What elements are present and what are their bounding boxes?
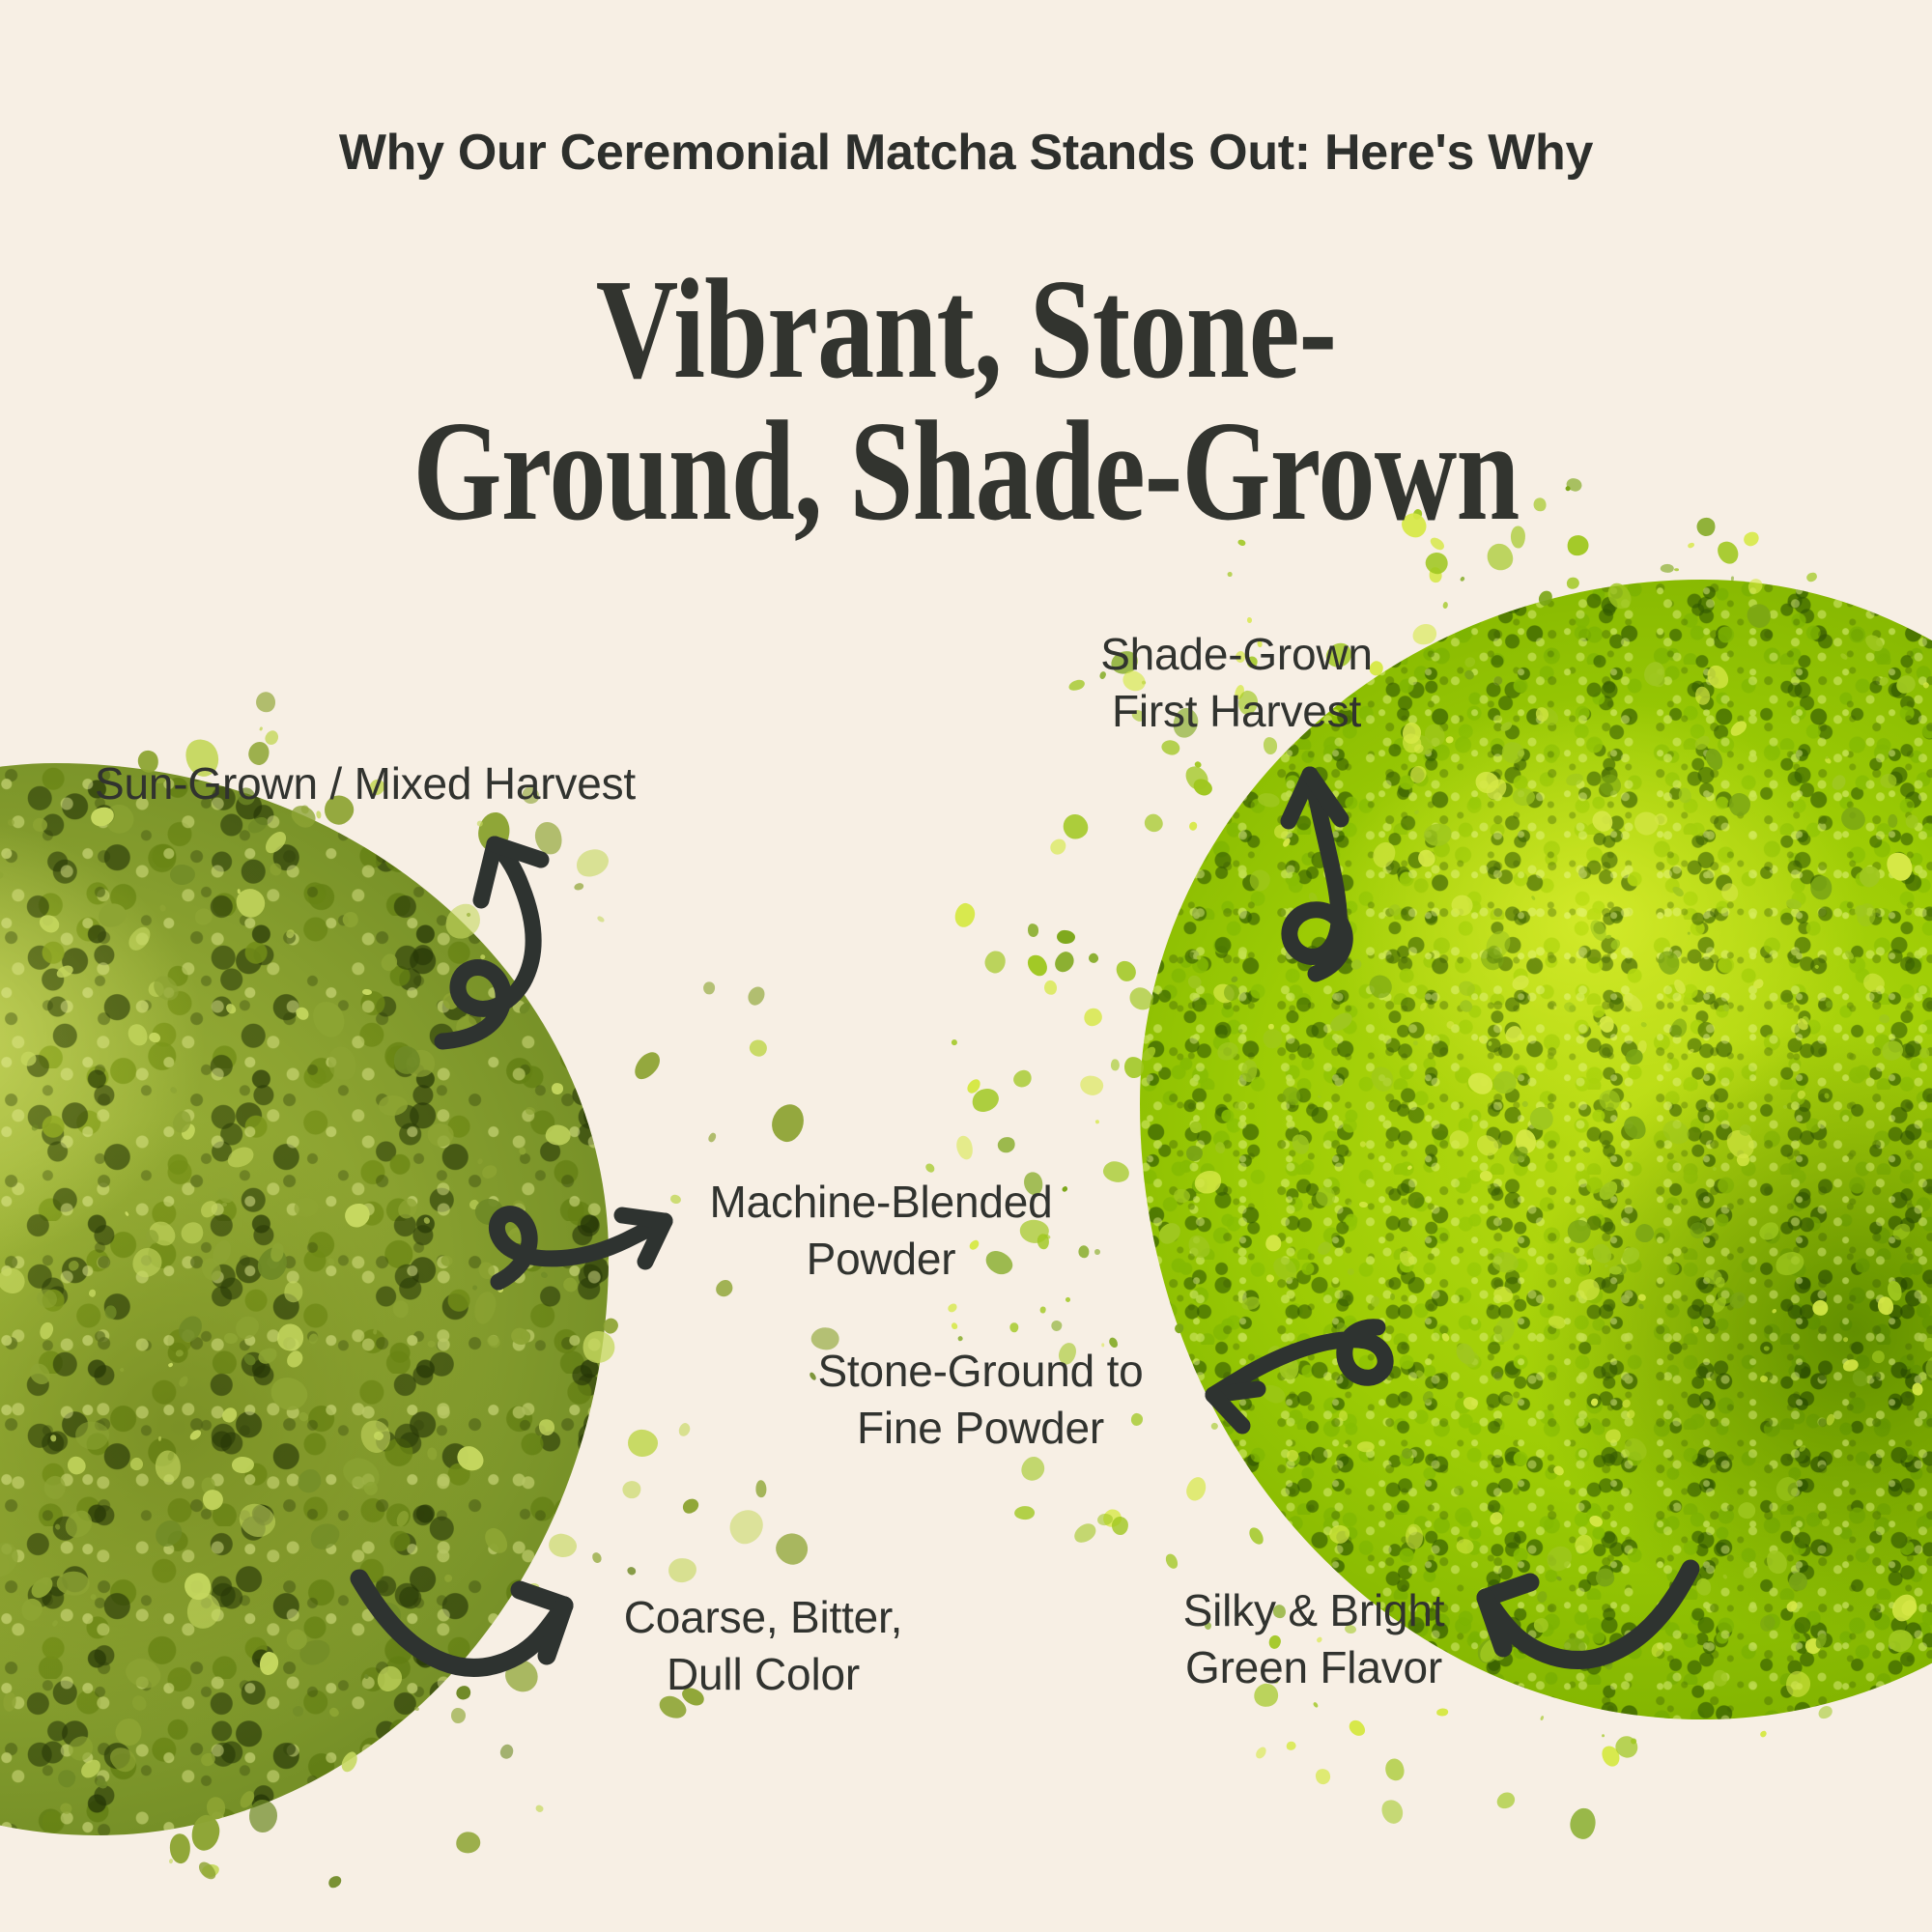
- powder-crumb: [1719, 881, 1741, 903]
- powder-crumb: [1483, 775, 1511, 803]
- powder-crumb: [1877, 674, 1889, 687]
- powder-crumb: [225, 1002, 239, 1015]
- powder-crumb: [249, 1800, 278, 1833]
- powder-crumb: [54, 963, 74, 980]
- powder-crumb: [1014, 1506, 1035, 1520]
- powder-crumb: [261, 828, 290, 857]
- powder-crumb: [199, 1750, 217, 1768]
- powder-crumb: [1279, 1084, 1303, 1108]
- powder-crumb: [1763, 1346, 1769, 1351]
- powder-crumb: [540, 1270, 549, 1278]
- powder-crumb: [1787, 1570, 1810, 1593]
- powder-crumb: [324, 1042, 359, 1083]
- powder-crumb: [443, 1573, 454, 1583]
- powder-crumb: [1691, 1325, 1699, 1333]
- powder-crumb: [1492, 1608, 1514, 1634]
- powder-crumb: [1620, 1113, 1651, 1145]
- powder-crumb: [1880, 774, 1897, 788]
- powder-crumb: [1734, 1151, 1751, 1168]
- powder-crumb: [1335, 1321, 1351, 1343]
- powder-crumb: [1595, 1086, 1625, 1116]
- powder-crumb: [1254, 1745, 1268, 1760]
- powder-crumb: [1742, 529, 1762, 549]
- powder-crumb: [1596, 1021, 1600, 1026]
- powder-crumb: [32, 817, 47, 832]
- powder-crumb: [951, 1038, 957, 1045]
- powder-crumb: [526, 1107, 536, 1116]
- powder-crumb: [1492, 1284, 1516, 1304]
- powder-crumb: [2, 1691, 17, 1712]
- powder-crumb: [155, 1450, 183, 1484]
- powder-crumb: [772, 1529, 811, 1569]
- powder-crumb: [1862, 632, 1886, 654]
- powder-crumb: [1731, 576, 1735, 581]
- powder-crumb: [391, 1299, 409, 1318]
- powder-crumb: [293, 1196, 319, 1217]
- powder-crumb: [338, 1451, 384, 1494]
- powder-crumb: [1080, 1005, 1105, 1030]
- infographic-canvas: Why Our Ceremonial Matcha Stands Out: He…: [0, 0, 1932, 1932]
- powder-crumb: [455, 1831, 481, 1854]
- powder-crumb: [1459, 998, 1475, 1014]
- powder-crumb: [1010, 1066, 1035, 1090]
- powder-crumb: [1751, 978, 1765, 990]
- powder-crumb: [1694, 1577, 1712, 1597]
- powder-crumb: [1378, 1797, 1406, 1827]
- powder-crumb: [1122, 1056, 1144, 1079]
- powder-crumb: [1563, 1001, 1577, 1014]
- powder-crumb: [259, 726, 263, 731]
- powder-crumb: [1386, 902, 1403, 919]
- powder-crumb: [119, 1367, 125, 1373]
- powder-crumb: [1588, 808, 1616, 836]
- powder-crumb: [1460, 1348, 1484, 1371]
- powder-crumb: [202, 1477, 215, 1493]
- powder-crumb: [968, 1085, 1002, 1116]
- powder-crumb: [198, 1255, 224, 1284]
- powder-crumb: [116, 1719, 142, 1746]
- powder-crumb: [224, 1144, 256, 1172]
- powder-crumb: [148, 1031, 161, 1043]
- powder-crumb: [379, 952, 400, 974]
- arrow-shade-grown-icon: [1200, 736, 1403, 978]
- powder-crumb: [453, 1442, 488, 1476]
- powder-crumb: [1626, 1409, 1636, 1421]
- powder-crumb: [1572, 1532, 1596, 1557]
- powder-crumb: [1227, 572, 1232, 577]
- powder-crumb: [545, 1124, 571, 1147]
- powder-crumb: [597, 915, 606, 923]
- label-stone-ground: Stone-Ground to Fine Powder: [792, 1343, 1169, 1457]
- powder-crumb: [147, 980, 165, 998]
- powder-crumb: [1715, 538, 1744, 568]
- powder-crumb: [1674, 568, 1679, 571]
- powder-body-right: [1140, 580, 1932, 1719]
- powder-crumb: [534, 1804, 544, 1813]
- powder-crumb: [1448, 1129, 1469, 1150]
- powder-crumb: [1160, 739, 1181, 757]
- powder-crumb: [1694, 685, 1711, 705]
- powder-crumb: [269, 862, 283, 877]
- powder-crumb: [1215, 1039, 1241, 1064]
- powder-crumb: [1094, 1248, 1099, 1255]
- powder-crumb: [1531, 1615, 1551, 1635]
- powder-crumb: [1816, 1704, 1834, 1721]
- powder-crumb: [241, 1352, 257, 1368]
- powder-crumb: [1318, 1094, 1321, 1098]
- label-shade-grown-line-1: Shade-Grown: [1053, 626, 1420, 683]
- powder-crumb: [480, 1163, 499, 1181]
- powder-crumb: [1540, 1716, 1545, 1721]
- powder-crumb: [263, 728, 281, 748]
- powder-crumb: [394, 1195, 420, 1222]
- powder-crumb: [205, 1796, 227, 1821]
- powder-crumb: [75, 1421, 111, 1452]
- powder-crumb: [1442, 601, 1448, 609]
- powder-crumb: [1347, 1202, 1351, 1207]
- powder-crumb: [1824, 1093, 1830, 1099]
- powder-crumb: [328, 1706, 341, 1719]
- powder-crumb: [1095, 1120, 1100, 1124]
- powder-crumb: [1872, 1350, 1886, 1364]
- powder-crumb: [1586, 918, 1608, 944]
- powder-crumb: [1313, 1701, 1320, 1708]
- powder-crumb: [219, 1405, 240, 1425]
- powder-crumb: [1558, 1661, 1562, 1665]
- powder-crumb: [1414, 810, 1420, 815]
- powder-crumb: [38, 1321, 55, 1341]
- powder-crumb: [64, 1732, 98, 1766]
- powder-crumb: [1533, 1571, 1541, 1579]
- powder-crumb: [1407, 763, 1429, 785]
- powder-crumb: [1445, 1020, 1455, 1030]
- powder-crumb: [1798, 1444, 1806, 1453]
- powder-crumb: [454, 1683, 473, 1702]
- powder-crumb: [1722, 1573, 1728, 1579]
- powder-crumb: [680, 1496, 700, 1517]
- powder-crumb: [184, 1589, 224, 1633]
- powder-crumb: [1289, 1132, 1312, 1157]
- powder-crumb: [1855, 862, 1884, 892]
- powder-crumb: [1070, 1520, 1098, 1547]
- powder-crumb: [1721, 1003, 1730, 1011]
- powder-crumb: [1811, 1299, 1830, 1317]
- powder-crumb: [1703, 1268, 1722, 1286]
- powder-crumb: [1290, 934, 1298, 943]
- powder-crumb: [1078, 1074, 1104, 1098]
- powder-crumb: [1369, 1295, 1380, 1308]
- powder-crumb: [0, 1264, 29, 1298]
- powder-crumb: [1826, 755, 1830, 759]
- powder-crumb: [1214, 1141, 1226, 1154]
- powder-crumb: [1825, 1413, 1835, 1427]
- powder-crumb: [1473, 1634, 1506, 1667]
- powder-crumb: [1463, 669, 1476, 682]
- powder-crumb: [1492, 1250, 1520, 1273]
- powder-crumb: [1346, 1267, 1354, 1276]
- label-shade-grown-line-2: First Harvest: [1053, 683, 1420, 740]
- powder-crumb: [1611, 1732, 1641, 1761]
- powder-crumb: [755, 1481, 766, 1498]
- powder-crumb: [1634, 1222, 1655, 1242]
- powder-crumb: [1886, 1280, 1904, 1302]
- powder-crumb: [1598, 1014, 1616, 1034]
- powder-crumb: [1843, 1337, 1849, 1342]
- powder-speckle-left: [0, 763, 609, 1835]
- powder-body-left: [0, 763, 609, 1835]
- powder-crumb: [1642, 660, 1667, 688]
- powder-crumb: [1668, 1015, 1690, 1039]
- powder-crumb: [1742, 1564, 1757, 1579]
- powder-crumb: [1553, 1006, 1556, 1009]
- powder-crumb: [953, 1134, 975, 1161]
- powder-crumb: [1488, 1510, 1505, 1527]
- powder-grain-right: [1140, 580, 1932, 1719]
- powder-crumb: [1671, 885, 1686, 898]
- powder-crumb: [1493, 1789, 1518, 1811]
- powder-crumb: [1429, 566, 1442, 582]
- powder-crumb: [1188, 1120, 1204, 1135]
- powder-crumb: [196, 1860, 219, 1884]
- powder-crumb: [1078, 1244, 1090, 1258]
- powder-crumb: [510, 1198, 527, 1215]
- powder-crumb: [1923, 1337, 1932, 1352]
- arrow-stone-ground-icon: [1188, 1304, 1410, 1444]
- powder-crumb: [1210, 980, 1237, 1006]
- powder-crumb: [479, 953, 486, 960]
- powder-crumb: [1603, 1657, 1613, 1670]
- powder-crumb: [1677, 786, 1692, 804]
- powder-crumb: [1397, 1248, 1417, 1269]
- powder-crumb: [158, 1435, 161, 1440]
- powder-crumb: [1703, 663, 1732, 693]
- powder-crumb: [1173, 1321, 1184, 1334]
- powder-crumb: [146, 1216, 181, 1250]
- powder-crumb: [30, 1123, 39, 1132]
- powder-crumb: [1140, 1044, 1158, 1063]
- powder-crumb: [573, 844, 613, 881]
- powder-crumb: [1803, 1635, 1824, 1657]
- powder-crumb: [1477, 944, 1508, 974]
- powder-crumb: [270, 1242, 285, 1264]
- powder-crumb: [1565, 576, 1580, 590]
- powder-crumb: [222, 1203, 227, 1207]
- powder-crumb: [1581, 1146, 1591, 1153]
- powder-crumb: [518, 1001, 533, 1016]
- powder-crumb: [470, 1289, 498, 1325]
- powder-crumb: [1412, 742, 1426, 754]
- powder-crumb: [1850, 1368, 1870, 1389]
- powder-crumb: [1452, 1484, 1465, 1497]
- powder-crumb: [519, 1147, 527, 1156]
- powder-crumb: [748, 1038, 769, 1059]
- powder-crumb: [125, 923, 154, 954]
- powder-crumb: [0, 872, 4, 879]
- powder-crumb: [1043, 980, 1058, 996]
- powder-crumb: [1299, 793, 1310, 804]
- powder-crumb: [373, 1662, 407, 1696]
- powder-crumb: [982, 949, 1009, 976]
- powder-crumb: [1265, 1343, 1284, 1361]
- powder-crumb: [1436, 1709, 1449, 1718]
- powder-crumb: [707, 1131, 717, 1143]
- powder-crumb: [1142, 810, 1166, 835]
- powder-crumb: [20, 1051, 37, 1066]
- powder-crumb: [27, 1573, 55, 1601]
- powder-crumb: [1057, 930, 1076, 945]
- powder-crumb: [1230, 976, 1238, 984]
- powder-crumb: [192, 905, 214, 927]
- powder-crumb: [590, 1550, 603, 1564]
- powder-crumb: [622, 1481, 641, 1500]
- powder-crumb: [1306, 892, 1319, 904]
- powder-crumb: [1840, 652, 1849, 660]
- powder-crumb: [1513, 787, 1536, 806]
- powder-crumb: [1814, 1633, 1829, 1651]
- powder-crumb: [1722, 1125, 1760, 1164]
- label-shade-grown: Shade-Grown First Harvest: [1053, 626, 1420, 740]
- label-silky-bright-line-2: Green Flavor: [1159, 1639, 1468, 1696]
- powder-crumb: [475, 810, 511, 853]
- powder-crumb: [1784, 1599, 1799, 1613]
- powder-crumb: [1810, 875, 1833, 899]
- powder-crumb: [291, 1704, 305, 1719]
- powder-crumb: [1596, 771, 1625, 800]
- label-coarse-bitter: Coarse, Bitter, Dull Color: [599, 1589, 927, 1703]
- powder-crumb: [451, 1708, 466, 1723]
- powder-crumb: [50, 1435, 56, 1442]
- powder-crumb: [158, 904, 166, 912]
- powder-crumb: [500, 1655, 545, 1698]
- powder-crumb: [356, 1416, 394, 1457]
- powder-crumb: [451, 1011, 481, 1041]
- powder-crumb: [89, 1593, 97, 1601]
- powder-crumb: [951, 1321, 959, 1330]
- powder-crumb: [477, 820, 483, 826]
- powder-crumb: [485, 1333, 502, 1350]
- powder-crumb: [1267, 1023, 1274, 1030]
- powder-crumb: [1855, 905, 1867, 917]
- powder-crumb: [1619, 1244, 1642, 1267]
- powder-crumb: [1619, 1434, 1651, 1465]
- label-stone-ground-line-2: Fine Powder: [792, 1400, 1169, 1457]
- powder-crumb: [26, 1360, 54, 1389]
- powder-crumb: [1010, 1322, 1019, 1332]
- powder-crumb: [189, 1812, 223, 1852]
- powder-grain-left: [0, 763, 609, 1835]
- powder-crumb: [1687, 542, 1695, 549]
- powder-crumb: [1281, 837, 1292, 848]
- powder-crumb: [1481, 926, 1515, 962]
- powder-crumb: [1465, 1069, 1496, 1098]
- powder-crumb: [1855, 901, 1877, 927]
- powder-crumb: [200, 1863, 220, 1880]
- powder-crumb: [1463, 656, 1477, 669]
- powder-crumb: [0, 1537, 24, 1584]
- powder-crumb: [537, 1417, 556, 1437]
- powder-crumb: [1240, 1059, 1257, 1082]
- powder-crumb: [1460, 576, 1465, 582]
- powder-crumb: [210, 1237, 234, 1266]
- powder-crumb: [104, 1304, 116, 1319]
- powder-crumb: [1613, 1263, 1628, 1277]
- powder-crumb: [7, 818, 15, 827]
- powder-crumb: [1601, 1734, 1604, 1737]
- powder-crumb: [1728, 792, 1750, 816]
- powder-crumb: [1837, 804, 1869, 835]
- powder-crumb: [1480, 1170, 1493, 1181]
- powder-crumb: [1525, 1102, 1558, 1135]
- powder-crumb: [1728, 718, 1749, 739]
- powder-crumb: [1822, 1519, 1831, 1527]
- label-machine-blended-line-1: Machine-Blended: [688, 1174, 1074, 1231]
- powder-crumb: [168, 1859, 173, 1864]
- powder-crumb: [1314, 1184, 1339, 1209]
- powder-crumb: [1154, 1219, 1183, 1248]
- powder-crumb: [362, 989, 372, 996]
- powder-crumb: [340, 1199, 374, 1232]
- powder-crumb: [472, 1285, 478, 1291]
- powder-crumb: [1605, 1264, 1609, 1269]
- powder-crumb: [88, 1290, 96, 1298]
- powder-crumb: [1338, 1409, 1349, 1421]
- powder-crumb: [473, 1197, 504, 1226]
- powder-crumb: [677, 1421, 693, 1437]
- powder-crumb: [1599, 1743, 1622, 1769]
- powder-crumb: [1184, 1231, 1214, 1262]
- powder-crumb: [1621, 991, 1646, 1015]
- powder-crumb: [1605, 1427, 1623, 1444]
- powder-crumb: [1712, 1166, 1718, 1172]
- powder-crumb: [947, 1302, 959, 1314]
- powder-crumb: [427, 1122, 455, 1148]
- powder-crumb: [1449, 893, 1475, 919]
- powder-crumb: [307, 997, 351, 1043]
- powder-crumb: [1486, 1183, 1492, 1189]
- powder-crumb: [1164, 1552, 1180, 1572]
- powder-crumb: [214, 1184, 236, 1206]
- powder-crumb: [361, 1479, 380, 1497]
- powder-crumb: [124, 1211, 128, 1217]
- powder-crumb: [363, 1674, 368, 1680]
- powder-crumb: [1193, 760, 1202, 768]
- powder-crumb: [1406, 1165, 1412, 1171]
- powder-crumb: [413, 1706, 419, 1711]
- powder-crumb: [476, 1259, 498, 1282]
- powder-crumb: [1192, 1168, 1225, 1198]
- powder-crumb: [1593, 1565, 1618, 1590]
- powder-crumb: [1542, 1542, 1577, 1577]
- powder-crumb: [267, 1373, 312, 1415]
- powder-crumb: [1316, 1239, 1334, 1258]
- powder-crumb: [294, 1465, 327, 1498]
- powder-crumb: [1875, 1295, 1894, 1318]
- powder-crumb: [561, 1275, 581, 1294]
- powder-crumb: [1801, 1014, 1810, 1025]
- powder-crumb: [1824, 757, 1832, 765]
- powder-crumb: [704, 982, 716, 995]
- powder-crumb: [1457, 980, 1477, 999]
- powder-crumb: [1246, 1525, 1265, 1548]
- powder-crumb: [177, 1374, 189, 1388]
- powder-crumb: [1756, 1219, 1782, 1243]
- arrow-coarse-icon: [340, 1567, 582, 1697]
- powder-crumb: [1444, 735, 1454, 745]
- powder-crumb: [1285, 1741, 1296, 1751]
- powder-crumb: [1257, 790, 1281, 808]
- powder-crumb: [1424, 550, 1451, 576]
- powder-crumb: [171, 1108, 194, 1135]
